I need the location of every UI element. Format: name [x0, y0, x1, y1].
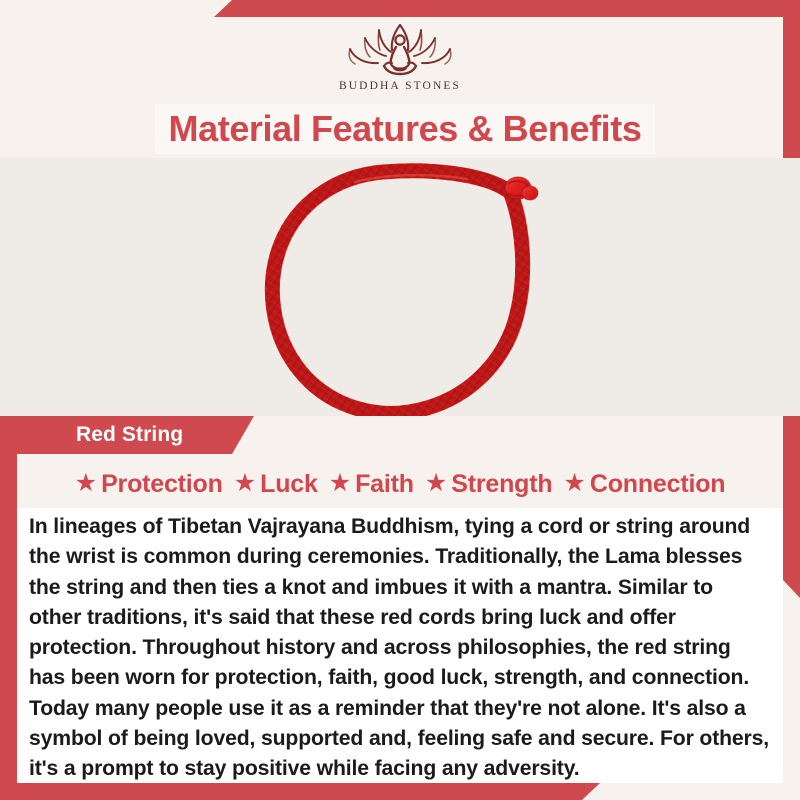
benefit-label: Faith [355, 470, 414, 499]
benefit-item-connection: ★ Connection [559, 470, 729, 499]
brand-name: BUDDHA STONES [320, 80, 480, 92]
star-icon: ★ [425, 471, 447, 496]
benefit-item-faith: ★ Faith [325, 470, 418, 499]
brand-header: BUDDHA STONES [0, 0, 800, 100]
benefit-item-luck: ★ Luck [230, 470, 322, 499]
infographic-page: BUDDHA STONES Material Features & Benefi… [0, 0, 800, 800]
benefit-label: Protection [101, 470, 223, 499]
benefit-label: Luck [260, 470, 318, 499]
red-string-bracelet-icon [235, 158, 575, 416]
page-title: Material Features & Benefits [169, 108, 642, 150]
description-panel: In lineages of Tibetan Vajrayana Buddhis… [17, 508, 783, 783]
material-label-ribbon: Red String [14, 416, 254, 454]
star-icon: ★ [329, 471, 351, 496]
product-image [0, 158, 800, 416]
decor-bar-bottom [0, 783, 600, 800]
star-icon: ★ [234, 471, 256, 496]
lotus-meditation-logo-icon [334, 16, 466, 78]
benefit-item-protection: ★ Protection [71, 470, 227, 499]
benefit-item-strength: ★ Strength [421, 470, 557, 499]
benefit-label: Strength [451, 470, 552, 499]
star-icon: ★ [563, 471, 585, 496]
star-icon: ★ [75, 471, 97, 496]
description-text: In lineages of Tibetan Vajrayana Buddhis… [29, 512, 769, 785]
title-banner: Material Features & Benefits [155, 104, 655, 154]
benefit-label: Connection [590, 470, 726, 499]
benefits-list: ★ Protection ★ Luck ★ Faith ★ Strength ★… [0, 462, 800, 506]
material-label: Red String [76, 423, 183, 447]
brand-logo: BUDDHA STONES [320, 16, 480, 92]
